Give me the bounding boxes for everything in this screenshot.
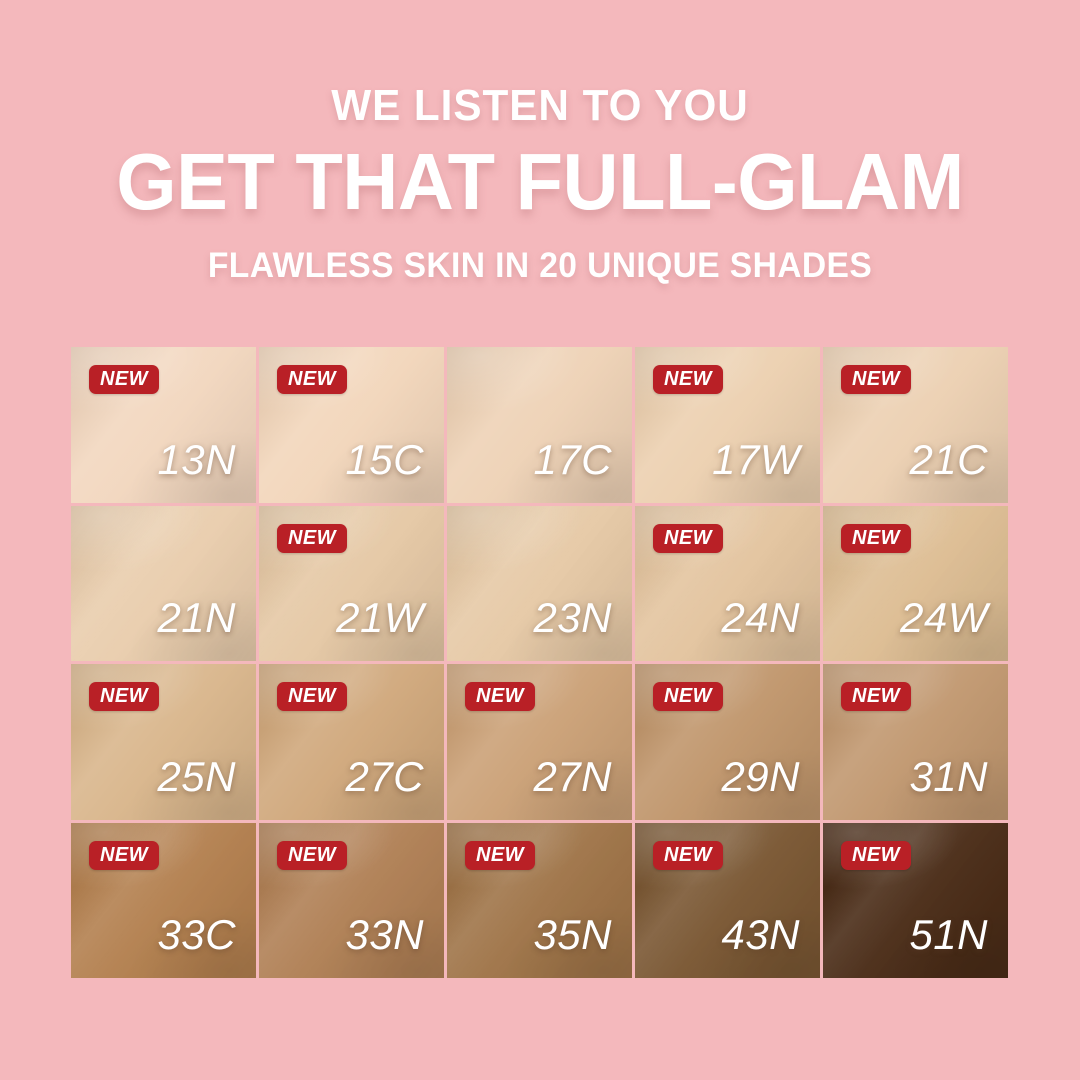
new-badge: NEW	[89, 365, 159, 394]
new-badge: NEW	[465, 682, 535, 711]
shade-swatch-21c[interactable]: NEW21C	[823, 347, 1008, 503]
shade-swatch-23n[interactable]: 23N	[447, 506, 632, 662]
new-badge: NEW	[465, 841, 535, 870]
shade-label: 15C	[345, 439, 424, 481]
shade-swatch-35n[interactable]: NEW35N	[447, 823, 632, 979]
page-title: GET THAT FULL-GLAM	[16, 142, 1064, 222]
shade-label: 21W	[336, 597, 424, 639]
subtitle-text: FLAWLESS SKIN IN 20 UNIQUE SHADES	[22, 248, 1059, 283]
shade-swatch-15c[interactable]: NEW15C	[259, 347, 444, 503]
shade-label: 29N	[721, 756, 800, 798]
promo-graphic: WE LISTEN TO YOU GET THAT FULL-GLAM FLAW…	[0, 0, 1080, 1080]
shade-swatch-27c[interactable]: NEW27C	[259, 664, 444, 820]
shade-label: 31N	[909, 756, 988, 798]
new-badge: NEW	[841, 682, 911, 711]
shade-label: 17W	[712, 439, 800, 481]
shade-swatch-27n[interactable]: NEW27N	[447, 664, 632, 820]
new-badge: NEW	[841, 524, 911, 553]
shade-label: 24N	[721, 597, 800, 639]
shade-swatch-29n[interactable]: NEW29N	[635, 664, 820, 820]
shade-label: 27N	[533, 756, 612, 798]
shade-label: 21C	[909, 439, 988, 481]
new-badge: NEW	[653, 841, 723, 870]
shade-swatch-24n[interactable]: NEW24N	[635, 506, 820, 662]
shade-label: 33N	[345, 914, 424, 956]
new-badge: NEW	[653, 682, 723, 711]
shade-swatch-25n[interactable]: NEW25N	[71, 664, 256, 820]
shade-swatch-51n[interactable]: NEW51N	[823, 823, 1008, 979]
new-badge: NEW	[277, 365, 347, 394]
shade-label: 51N	[909, 914, 988, 956]
shade-swatch-24w[interactable]: NEW24W	[823, 506, 1008, 662]
new-badge: NEW	[653, 365, 723, 394]
new-badge: NEW	[277, 524, 347, 553]
shade-label: 17C	[533, 439, 612, 481]
new-badge: NEW	[841, 365, 911, 394]
shade-swatch-33c[interactable]: NEW33C	[71, 823, 256, 979]
shade-label: 35N	[533, 914, 612, 956]
shade-label: 21N	[157, 597, 236, 639]
shade-label: 13N	[157, 439, 236, 481]
shade-swatch-21w[interactable]: NEW21W	[259, 506, 444, 662]
shade-swatch-17w[interactable]: NEW17W	[635, 347, 820, 503]
shade-grid: NEW13NNEW15C17CNEW17WNEW21C21NNEW21W23NN…	[71, 347, 1008, 978]
kicker-text: WE LISTEN TO YOU	[22, 84, 1059, 128]
shade-label: 43N	[721, 914, 800, 956]
new-badge: NEW	[653, 524, 723, 553]
shade-label: 25N	[157, 756, 236, 798]
shade-label: 24W	[900, 597, 988, 639]
shade-swatch-43n[interactable]: NEW43N	[635, 823, 820, 979]
new-badge: NEW	[277, 682, 347, 711]
shade-swatch-13n[interactable]: NEW13N	[71, 347, 256, 503]
new-badge: NEW	[841, 841, 911, 870]
shade-swatch-17c[interactable]: 17C	[447, 347, 632, 503]
shade-label: 33C	[157, 914, 236, 956]
shade-label: 23N	[533, 597, 612, 639]
shade-label: 27C	[345, 756, 424, 798]
new-badge: NEW	[89, 841, 159, 870]
new-badge: NEW	[277, 841, 347, 870]
shade-swatch-31n[interactable]: NEW31N	[823, 664, 1008, 820]
shade-swatch-33n[interactable]: NEW33N	[259, 823, 444, 979]
shade-swatch-21n[interactable]: 21N	[71, 506, 256, 662]
new-badge: NEW	[89, 682, 159, 711]
headings-block: WE LISTEN TO YOU GET THAT FULL-GLAM FLAW…	[0, 84, 1080, 283]
